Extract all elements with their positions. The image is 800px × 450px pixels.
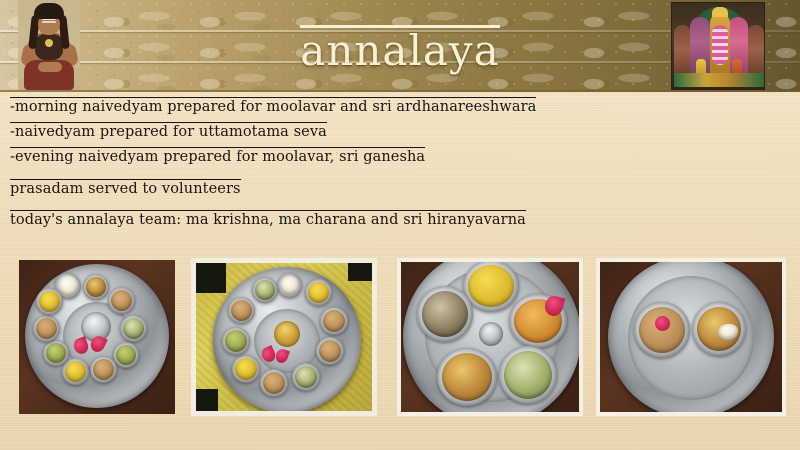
text-line-row: -naivedyam prepared for uttamotama seva (10, 121, 790, 146)
food-bowl (252, 277, 278, 303)
food-bowl (113, 342, 139, 368)
food-bowl (277, 273, 302, 298)
food-bowl (692, 302, 746, 356)
food-portion (93, 359, 114, 380)
cloth-corner-shadow (196, 389, 218, 411)
food-portion (111, 290, 132, 311)
food-bowl (222, 327, 250, 355)
food-bowl (305, 279, 332, 306)
text-line-row: -evening naivedyam prepared for moolavar… (10, 146, 790, 171)
food-bowl (33, 315, 60, 342)
text-line-uttamotama-seva: -naivedyam prepared for uttamotama seva (10, 122, 327, 140)
food-portion (36, 318, 57, 339)
center-gold-vessel (274, 321, 300, 347)
food-bowl (437, 348, 497, 406)
food-portion (231, 300, 252, 321)
food-portion (58, 276, 78, 296)
food-portion (422, 291, 468, 337)
body-text-block: -morning naivedyam prepared for moolavar… (10, 96, 790, 234)
food-portion (65, 361, 86, 382)
food-bowl (292, 363, 320, 391)
food-bowl (90, 356, 117, 383)
food-bowl (228, 297, 255, 324)
food-portion (319, 340, 341, 362)
food-portion (263, 372, 285, 394)
guru-hands (38, 62, 62, 72)
deity-garland (712, 25, 728, 65)
food-portion (225, 330, 247, 352)
food-bowl (260, 369, 288, 397)
deity-crown (712, 7, 728, 17)
text-line-evening-naivedyam: -evening naivedyam prepared for moolavar… (10, 147, 425, 165)
deity-idols-photo (671, 2, 765, 90)
white-garnish (718, 324, 738, 340)
text-line-row: -morning naivedyam prepared for moolavar… (10, 96, 790, 121)
cloth-corner-shadow (196, 263, 226, 293)
text-line-prasadam-volunteers: prasadam served to volunteers (10, 179, 241, 197)
food-portion (280, 276, 299, 295)
text-line-annalaya-team: today's annalaya team: ma krishna, ma ch… (10, 210, 526, 228)
text-line-row: today's annalaya team: ma krishna, ma ch… (10, 209, 790, 234)
food-bowl (499, 346, 557, 404)
food-bowl (232, 355, 260, 383)
food-portion (504, 351, 552, 399)
slide-root: annalaya -morning naivedyam prepar (0, 0, 800, 450)
photo-thali-with-small-bowls-dark-table (19, 260, 175, 414)
page-title-text: annalaya (300, 25, 499, 73)
cloth-corner-shadow (348, 263, 372, 281)
text-line-morning-naivedyam: -morning naivedyam prepared for moolavar… (10, 97, 536, 115)
photo-row (0, 258, 800, 416)
food-bowl (320, 307, 348, 335)
guru-portrait (18, 0, 80, 90)
food-bowl (108, 287, 135, 314)
food-portion (255, 280, 275, 300)
guru-forehead-mark (42, 21, 56, 23)
food-portion (46, 343, 66, 363)
food-bowl (62, 358, 89, 385)
food-bowl (43, 340, 69, 366)
center-tumbler (479, 322, 503, 346)
deity-pedestal (674, 73, 764, 87)
food-portion (235, 358, 257, 380)
guru-turban (34, 3, 64, 19)
food-portion (116, 345, 136, 365)
food-portion (39, 291, 60, 312)
food-bowl (83, 274, 109, 300)
photo-thali-on-yellow-cloth (191, 258, 377, 416)
food-bowl (316, 337, 344, 365)
food-portion (442, 353, 492, 401)
food-portion (308, 282, 329, 303)
red-kumkum-mark (655, 316, 670, 331)
food-bowl (417, 286, 473, 342)
food-portion (295, 366, 317, 388)
photo-steel-plate-two-bowls (596, 258, 786, 416)
photo-steel-plate-five-bowls-closeup (397, 258, 583, 416)
food-portion (323, 310, 345, 332)
food-bowl (634, 302, 690, 358)
food-portion (86, 277, 106, 297)
food-bowl (36, 288, 63, 315)
text-line-row: prasadam served to volunteers (10, 178, 790, 203)
guru-pendant (45, 39, 53, 47)
food-portion (468, 265, 514, 307)
guru-shawl (35, 34, 63, 60)
food-bowl (120, 315, 147, 342)
food-portion (123, 318, 144, 339)
